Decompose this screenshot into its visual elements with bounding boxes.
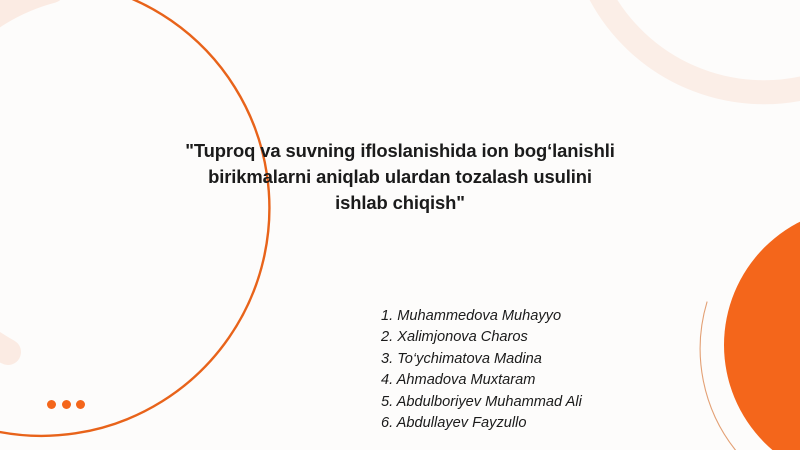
author-list-item: 2. Xalimjonova Charos <box>381 327 761 348</box>
orange-outline-arc-icon <box>0 0 269 436</box>
author-list-item: 5. Abdulboriyev Muhammad Ali <box>381 392 761 413</box>
author-list-item: 6. Abdullayev Fayzullo <box>381 413 761 434</box>
slide-title-block: "Tuproq va suvning ifloslanishida ion bo… <box>150 138 650 216</box>
authors-block: 1. Muhammedova Muhayyo2. Xalimjonova Cha… <box>381 306 761 435</box>
page-title: "Tuproq va suvning ifloslanishida ion bo… <box>150 138 650 216</box>
authors-list: 1. Muhammedova Muhayyo2. Xalimjonova Cha… <box>381 306 761 435</box>
presentation-slide: "Tuproq va suvning ifloslanishida ion bo… <box>0 0 800 450</box>
author-list-item: 4. Ahmadova Muxtaram <box>381 370 761 391</box>
author-list-item: 3. To‘ychimatova Madina <box>381 349 761 370</box>
accent-dot-3 <box>76 400 85 409</box>
accent-dot-2 <box>62 400 71 409</box>
pale-arc-top-right-icon <box>600 0 800 92</box>
pale-arc-left-icon <box>0 0 52 352</box>
author-list-item: 1. Muhammedova Muhayyo <box>381 306 761 327</box>
accent-dot-1 <box>47 400 56 409</box>
